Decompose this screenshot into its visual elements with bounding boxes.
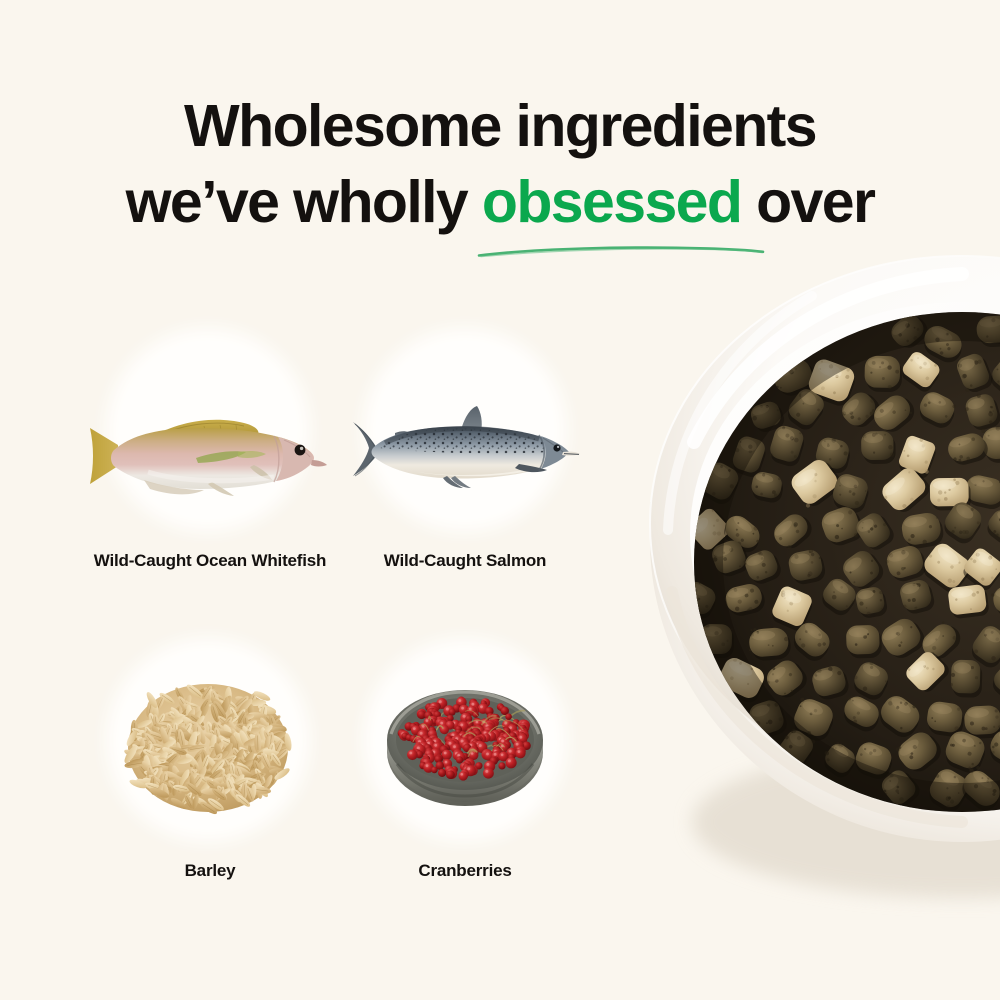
ingredient-label-whitefish: Wild-Caught Ocean Whitefish xyxy=(80,548,340,573)
ingredient-whitefish xyxy=(120,342,296,518)
ingredient-label-cranberries: Cranberries xyxy=(335,858,595,883)
headline-line-2-post: over xyxy=(741,169,874,235)
headline-line-2-pre: we’ve wholly xyxy=(126,169,482,235)
ingredient-label-barley: Barley xyxy=(80,858,340,883)
ingredients-promo-graphic: Wholesome ingredients we’ve wholly obses… xyxy=(0,0,1000,1000)
kibble-bowl xyxy=(632,262,1000,934)
headline-highlight: obsessed xyxy=(482,164,741,240)
headline: Wholesome ingredients we’ve wholly obses… xyxy=(0,88,1000,240)
headline-underline-icon xyxy=(476,243,766,259)
cranberries-bowl-icon xyxy=(377,652,553,828)
barley-grains-icon xyxy=(120,652,296,828)
ingredient-label-salmon: Wild-Caught Salmon xyxy=(335,548,595,573)
headline-line-2: we’ve wholly obsessed over xyxy=(0,164,1000,240)
ingredient-cranberries xyxy=(377,652,553,828)
ingredient-barley xyxy=(120,652,296,828)
ingredient-salmon xyxy=(377,342,553,518)
salmon-icon xyxy=(377,342,553,518)
headline-line-1: Wholesome ingredients xyxy=(0,88,1000,164)
whitefish-icon xyxy=(120,342,296,518)
headline-highlight-text: obsessed xyxy=(482,169,741,235)
